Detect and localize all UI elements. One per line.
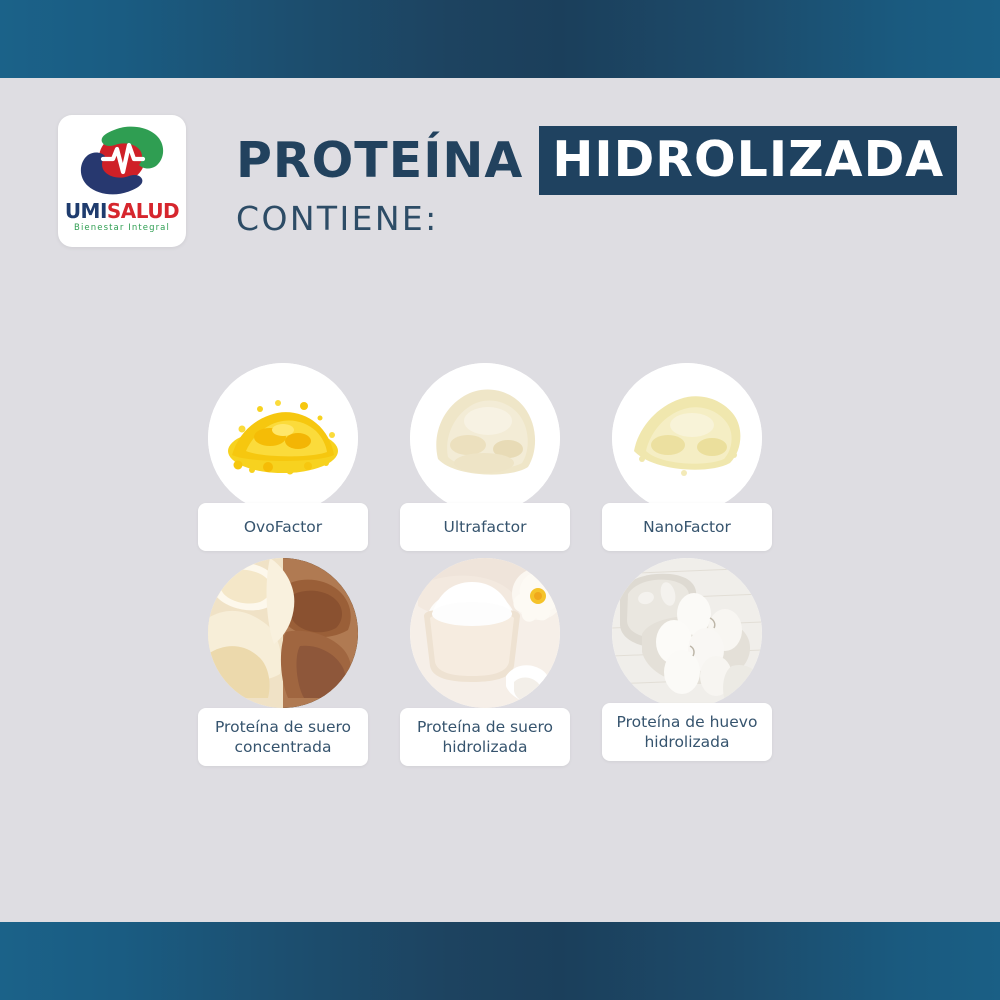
ingredient-thumb <box>612 363 762 513</box>
ingredient-thumb <box>410 558 560 708</box>
yellow-egg-powder-icon <box>208 363 358 513</box>
ingredient-label: OvoFactor <box>198 503 368 551</box>
cream-powder-mound-icon <box>410 363 560 513</box>
vanilla-and-chocolate-powder-icon <box>208 558 358 708</box>
ingredient-label: Proteína de suero hidrolizada <box>400 708 570 766</box>
ingredient-thumb <box>410 363 560 513</box>
pale-yellow-granules-icon <box>612 363 762 513</box>
ingredient-label: Ultrafactor <box>400 503 570 551</box>
ingredient-grid: OvoFactor Ultrafactor <box>0 0 1000 1000</box>
ingredient-thumb <box>612 558 762 708</box>
ingredient-label: Proteína de suero concentrada <box>198 708 368 766</box>
ingredient-label: NanoFactor <box>602 503 772 551</box>
ingredient-label: Proteína de huevo hidrolizada <box>602 703 772 761</box>
white-powder-bowl-icon <box>410 558 560 708</box>
ingredient-thumb <box>208 363 358 513</box>
poster: UMISALUD Bienestar Integral PROTEÍNA HID… <box>0 0 1000 1000</box>
ingredient-thumb <box>208 558 358 708</box>
eggs-in-carton-icon <box>612 558 762 708</box>
